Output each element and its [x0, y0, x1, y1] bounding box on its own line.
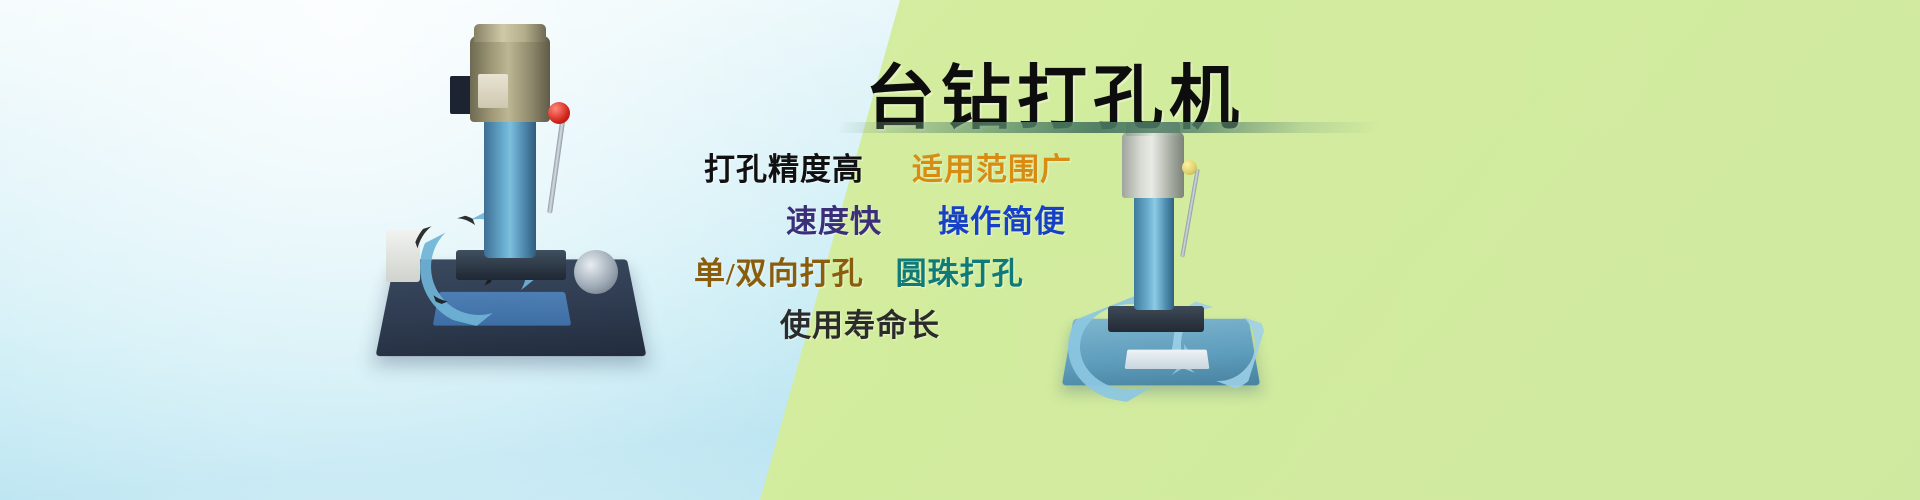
feature-list: 打孔精度高 适用范围广 速度快 操作简便 单/双向打孔 圆珠打孔 使用寿命长: [660, 140, 1120, 348]
feature-row: 单/双向打孔 圆珠打孔: [660, 244, 1120, 296]
feature-row: 打孔精度高 适用范围广: [660, 140, 1120, 192]
machine-control-box: [386, 230, 420, 282]
feature-item: 操作简便: [938, 196, 1066, 241]
feature-item: 打孔精度高: [704, 144, 864, 189]
machine2-work-plate: [1125, 350, 1210, 369]
machine-handwheel: [574, 250, 618, 294]
feature-item: 圆珠打孔: [896, 248, 1024, 293]
feature-item: 单/双向打孔: [694, 248, 864, 293]
machine-fan-cover: [474, 24, 546, 42]
feature-item: 适用范围广: [912, 144, 1072, 189]
machine2-lever-knob: [1182, 160, 1197, 175]
feature-item: 速度快: [786, 196, 882, 241]
feature-item: 使用寿命长: [780, 300, 940, 345]
machine2-column: [1134, 192, 1174, 310]
feature-row: 使用寿命长: [660, 296, 1120, 348]
product-banner: 台钻打孔机 打孔精度高 适用范围广 速度快 操作简便 单/双向打孔 圆珠打孔 使…: [0, 0, 1920, 500]
feature-row: 速度快 操作简便: [660, 192, 1120, 244]
banner-title: 台钻打孔机: [0, 42, 1920, 143]
